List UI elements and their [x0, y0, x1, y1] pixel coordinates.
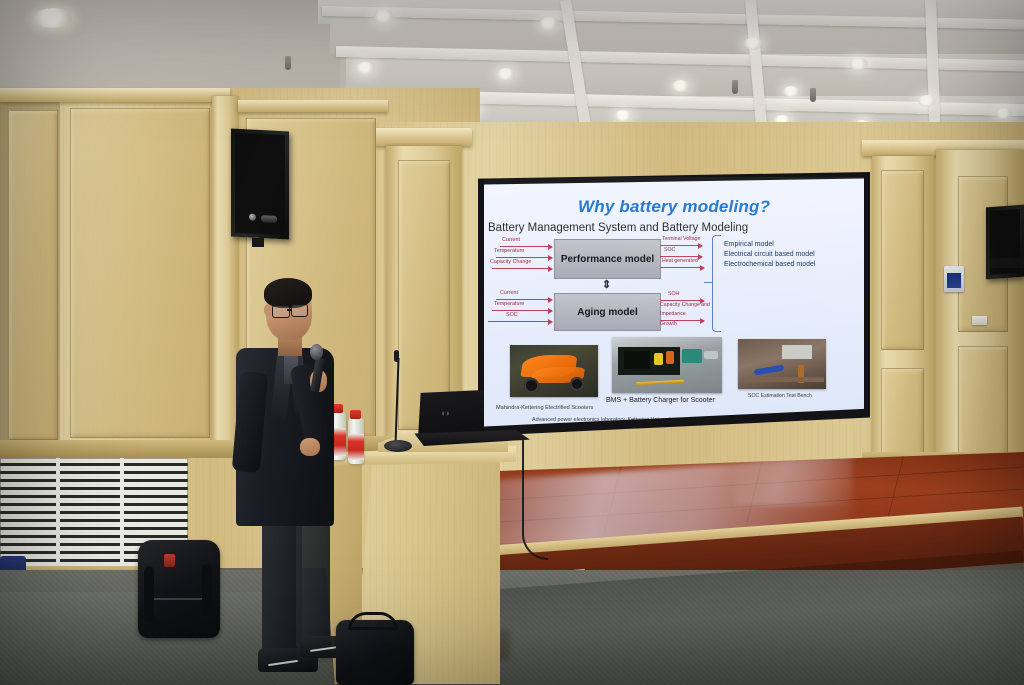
wall-panel — [70, 108, 210, 438]
perf-input-label-temperature: Temperature — [494, 248, 524, 254]
perf-output-label-soc: SOC — [664, 247, 675, 253]
speaker-badge — [261, 215, 277, 223]
photo-test-bench — [738, 339, 826, 389]
caption-left: Mahindra-Kettering Electrified Scooters — [496, 405, 593, 411]
ceiling-pendant — [285, 56, 291, 70]
scooter-wheel — [524, 378, 539, 393]
perf-input-label-capacity-change: Capacity Change — [490, 259, 531, 265]
wall-panel — [881, 170, 924, 350]
performance-model-block: Performance model — [554, 239, 661, 279]
black-shoulder-bag[interactable] — [336, 620, 414, 685]
aging-input-arrow — [488, 321, 552, 322]
aging-input-label-temperature: Temperature — [494, 301, 524, 307]
backpack-zipper — [150, 598, 208, 600]
model-type-item: Electrochemical based model — [724, 260, 815, 270]
black-backpack[interactable] — [138, 540, 220, 638]
speaker-bracket — [990, 258, 1024, 268]
downlight — [744, 37, 763, 50]
downlight — [497, 68, 515, 80]
bag-handle — [348, 612, 398, 630]
downlight — [849, 58, 868, 70]
perf-output-label-terminal-voltage: Terminal Voltage — [662, 236, 700, 242]
aging-model-block: Aging model — [554, 293, 661, 331]
caption-center: BMS + Battery Charger for Scooter — [606, 397, 715, 404]
aging-output-label-capacity-change: Capacity Change and — [660, 302, 710, 308]
heatsink — [624, 351, 650, 369]
pencil — [636, 380, 684, 386]
ceiling-pendant — [732, 80, 738, 94]
left-wall-loudspeaker — [231, 128, 289, 239]
bidirectional-arrow: ⇕ — [602, 278, 611, 291]
speaker-grille — [235, 133, 285, 236]
right-corner-loudspeaker — [986, 205, 1024, 280]
presentation-room-photo: Why battery modeling? Battery Management… — [0, 0, 1024, 685]
bench-instrument — [782, 345, 812, 359]
wall-panel — [958, 346, 1008, 458]
eyeglass-bridge — [287, 309, 292, 311]
downlight — [34, 8, 72, 28]
model-type-item: Electrical circuit based model — [724, 250, 815, 260]
control-panel-screen — [947, 273, 961, 288]
downlight — [539, 17, 559, 30]
perf-input-label-current: Current — [502, 237, 520, 243]
light-switch[interactable] — [972, 316, 987, 325]
slide-subtitle: Battery Management System and Battery Mo… — [488, 222, 748, 234]
power-cable — [522, 438, 548, 560]
presenter-ear — [264, 304, 272, 316]
perf-output-arrow — [660, 245, 702, 246]
brace-stem — [704, 282, 713, 283]
projection-screen[interactable]: Why battery modeling? Battery Management… — [484, 177, 864, 429]
podium-microphone-base — [384, 440, 412, 452]
pilaster-cap — [374, 128, 472, 146]
aging-output-label-soh: SOH — [668, 291, 679, 297]
perf-input-arrow — [492, 268, 552, 269]
aging-output-label-impedance: Impedance — [660, 311, 686, 317]
vent-mullion — [56, 458, 60, 570]
photo-bms-charger — [612, 337, 722, 393]
handheld-microphone-head — [310, 344, 323, 360]
wall-panel — [881, 368, 924, 458]
model-brace — [712, 235, 721, 332]
eyeglass-lens — [291, 304, 308, 317]
wall-panel — [8, 110, 58, 440]
aging-input-arrow — [492, 310, 552, 311]
connector — [704, 351, 718, 359]
downlight — [672, 80, 690, 92]
presenter-hand — [300, 438, 320, 456]
aging-input-arrow — [496, 299, 552, 300]
aging-input-label-soc: SOC — [506, 312, 518, 318]
perf-output-arrow — [660, 256, 702, 257]
wall-control-panel[interactable] — [944, 266, 964, 292]
perf-output-label-heat-generated: Heat generated — [662, 258, 698, 264]
presentation-laptop-screen[interactable]: ◖◗ — [418, 390, 484, 438]
speaker-bracket — [252, 238, 264, 247]
downlight — [615, 110, 632, 121]
bench-table-edge — [742, 377, 824, 382]
bottle-label — [348, 434, 364, 460]
downlight — [918, 95, 936, 107]
slide-title: Why battery modeling? — [578, 197, 770, 217]
perf-output-arrow — [660, 267, 704, 268]
ceiling-pendant — [810, 88, 816, 102]
speaker-knob — [249, 213, 256, 220]
downlight — [356, 62, 375, 74]
caption-right: SOC Estimation Test Bench — [748, 393, 812, 399]
downlight — [996, 108, 1012, 119]
connector — [682, 349, 702, 363]
aging-output-label-growth: Growth — [660, 321, 677, 327]
podium-microphone-head — [394, 350, 399, 362]
perf-input-arrow — [500, 246, 552, 247]
wall-cornice — [238, 100, 388, 112]
battery-pack — [754, 364, 785, 375]
bottle-cap — [350, 410, 361, 419]
aging-input-label-current: Current — [500, 290, 518, 296]
slide-content: Why battery modeling? Battery Management… — [484, 177, 864, 429]
model-type-item: Empirical model — [724, 240, 815, 250]
backpack-strap — [144, 566, 154, 622]
downlight — [374, 10, 394, 23]
scooter-wheel — [570, 377, 584, 391]
backpack-strap — [202, 564, 212, 622]
vent-mullion — [120, 458, 124, 570]
aging-output-arrow — [660, 300, 704, 301]
capacitor — [654, 353, 663, 365]
capacitor — [666, 351, 674, 364]
laptop-logo: ◖◗ — [440, 408, 451, 418]
wall-panel — [398, 160, 450, 430]
baseboard — [0, 440, 240, 458]
stage-reflection — [734, 456, 854, 506]
backpack-logo — [164, 554, 175, 567]
perf-input-arrow — [496, 257, 552, 258]
downlight — [783, 86, 800, 97]
wall-cornice — [0, 88, 230, 102]
eyeglass-lens — [272, 305, 290, 318]
photo-scooters — [510, 345, 598, 397]
model-type-list: Empirical model Electrical circuit based… — [724, 240, 815, 270]
